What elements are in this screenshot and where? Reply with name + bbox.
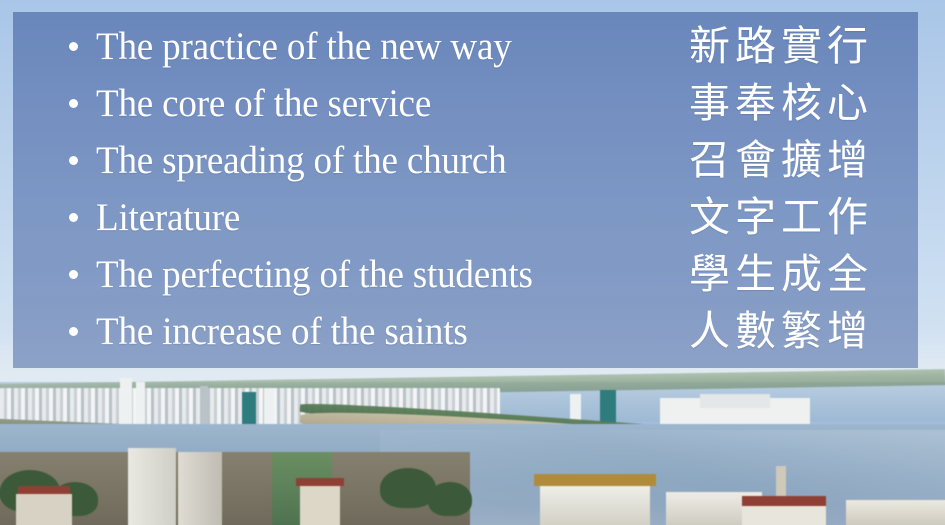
- bullet-chinese-text: 學生成全: [689, 254, 873, 295]
- bullet-chinese-text: 文字工作: [689, 197, 873, 238]
- white-apartment-block: [540, 484, 650, 525]
- low-building: [16, 494, 72, 525]
- red-roof: [296, 478, 344, 486]
- bullet-marker: [69, 99, 78, 108]
- bullet-marker: [69, 213, 78, 222]
- bullet-english-text: The spreading of the church: [96, 141, 506, 180]
- bullet-row: The spreading of the church 召會擴增: [13, 132, 918, 189]
- white-highrise: [178, 452, 222, 525]
- bullet-chinese-text: 事奉核心: [689, 83, 873, 124]
- bullet-row: The core of the service 事奉核心: [13, 75, 918, 132]
- bullet-chinese-text: 召會擴增: [689, 140, 873, 181]
- temple-spire: [776, 466, 786, 500]
- bullet-english-text: The perfecting of the students: [96, 255, 533, 294]
- presentation-slide: The practice of the new way 新路實行 The cor…: [0, 0, 945, 525]
- white-apartment-block: [742, 506, 826, 525]
- bullet-row: The perfecting of the students 學生成全: [13, 246, 918, 303]
- bullet-english-text: The increase of the saints: [96, 312, 468, 351]
- white-apartment-block: [846, 500, 945, 525]
- mid-rise-block: [300, 484, 340, 525]
- temple-roof: [534, 474, 656, 486]
- bullet-english-text: Literature: [96, 198, 240, 237]
- bullet-marker: [69, 270, 78, 279]
- riverside-hotel-wing: [700, 394, 770, 408]
- bullet-marker: [69, 42, 78, 51]
- bullet-english-text: The core of the service: [96, 84, 431, 123]
- translucent-text-panel: The practice of the new way 新路實行 The cor…: [13, 12, 918, 368]
- bullet-row: The increase of the saints 人數繁增: [13, 303, 918, 360]
- bullet-marker: [69, 156, 78, 165]
- tree: [428, 482, 472, 516]
- bullet-row: Literature 文字工作: [13, 189, 918, 246]
- bullet-row: The practice of the new way 新路實行: [13, 18, 918, 75]
- bullet-chinese-text: 新路實行: [689, 26, 873, 67]
- white-highrise: [128, 448, 176, 525]
- bullet-chinese-text: 人數繁增: [689, 311, 873, 352]
- bullet-marker: [69, 327, 78, 336]
- bullet-english-text: The practice of the new way: [96, 27, 512, 66]
